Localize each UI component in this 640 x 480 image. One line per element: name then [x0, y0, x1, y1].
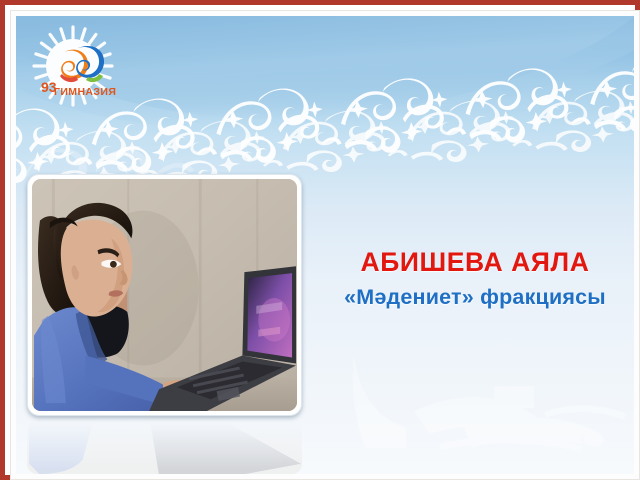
speaker-text-block: АБИШЕВА АЯЛА «Мәдениет» фракциясы: [316, 248, 634, 309]
photo-reflection: [27, 420, 302, 474]
logo-school-word: ГИМНАЗИЯ: [54, 86, 116, 98]
slide-outer-frame: 93 ГИМНАЗИЯ: [0, 0, 640, 480]
school-logo: 93 ГИМНАЗИЯ: [24, 22, 122, 112]
student-photo: [32, 179, 297, 411]
presentation-slide: 93 ГИМНАЗИЯ: [16, 16, 634, 474]
speaker-fraction: «Мәдениет» фракциясы: [316, 285, 634, 310]
speaker-name: АБИШЕВА АЯЛА: [316, 248, 634, 278]
student-photo-card: [27, 174, 302, 416]
ornament-bottom-right-faint: [344, 316, 634, 456]
